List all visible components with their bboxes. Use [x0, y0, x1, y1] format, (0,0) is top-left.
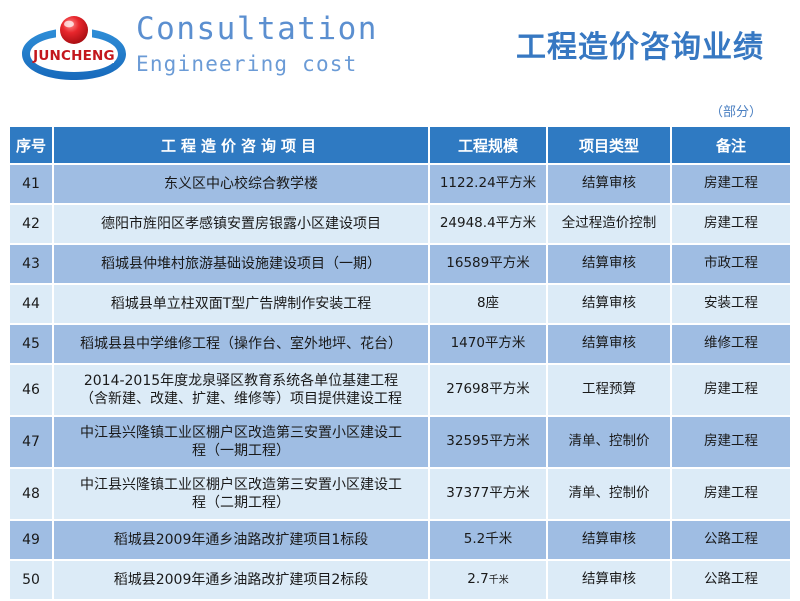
- performance-table-wrap: 序号 工程造价咨询项目 工程规模 项目类型 备注 41东义区中心校综合教学楼11…: [8, 125, 792, 601]
- page-header: JUNCHENG Consultation Engineering cost 工…: [0, 0, 800, 96]
- company-logo: JUNCHENG: [18, 12, 130, 84]
- table-body: 41东义区中心校综合教学楼1122.24平方米结算审核房建工程42德阳市旌阳区孝…: [10, 165, 790, 599]
- performance-table: 序号 工程造价咨询项目 工程规模 项目类型 备注 41东义区中心校综合教学楼11…: [8, 125, 792, 601]
- table-header-row: 序号 工程造价咨询项目 工程规模 项目类型 备注: [10, 127, 790, 163]
- cell-note: 公路工程: [672, 521, 790, 559]
- cell-project-line: 稻城县单立柱双面T型广告牌制作安装工程: [57, 295, 425, 313]
- cell-project: 稻城县县中学维修工程（操作台、室外地坪、花台）: [54, 325, 428, 363]
- cell-note: 房建工程: [672, 205, 790, 243]
- cell-type: 结算审核: [548, 285, 670, 323]
- cell-scale-value: 1122.24平方米: [440, 175, 536, 191]
- cell-project: 稻城县2009年通乡油路改扩建项目1标段: [54, 521, 428, 559]
- juncheng-logo-icon: JUNCHENG: [18, 12, 130, 84]
- cell-scale-value: 8座: [477, 295, 499, 311]
- cell-project-line: 程（二期工程）: [57, 494, 425, 512]
- cell-note: 房建工程: [672, 365, 790, 415]
- title-subnote: （部分）: [710, 101, 762, 120]
- cell-serial: 50: [10, 561, 52, 599]
- cell-serial: 46: [10, 365, 52, 415]
- cell-project-line: 2014-2015年度龙泉驿区教育系统各单位基建工程: [57, 372, 425, 390]
- cell-scale-value: 24948.4平方米: [440, 215, 536, 231]
- cell-serial: 43: [10, 245, 52, 283]
- cell-serial: 44: [10, 285, 52, 323]
- cell-project-line: 稻城县2009年通乡油路改扩建项目1标段: [57, 531, 425, 549]
- cell-project: 稻城县单立柱双面T型广告牌制作安装工程: [54, 285, 428, 323]
- table-row: 48中江县兴隆镇工业区棚户区改造第三安置小区建设工程（二期工程）37377平方米…: [10, 469, 790, 519]
- cell-scale: 16589平方米: [430, 245, 546, 283]
- cell-type: 清单、控制价: [548, 417, 670, 467]
- table-header: 序号 工程造价咨询项目 工程规模 项目类型 备注: [10, 127, 790, 163]
- cell-project-line: 中江县兴隆镇工业区棚户区改造第三安置小区建设工: [57, 476, 425, 494]
- col-header-type: 项目类型: [548, 127, 670, 163]
- table-row: 47中江县兴隆镇工业区棚户区改造第三安置小区建设工程（一期工程）32595平方米…: [10, 417, 790, 467]
- cell-scale: 37377平方米: [430, 469, 546, 519]
- cell-project: 德阳市旌阳区孝感镇安置房银露小区建设项目: [54, 205, 428, 243]
- cell-type: 结算审核: [548, 521, 670, 559]
- cell-scale-unit: 千米: [489, 575, 509, 586]
- table-row: 49稻城县2009年通乡油路改扩建项目1标段5.2千米结算审核公路工程: [10, 521, 790, 559]
- cell-type: 结算审核: [548, 561, 670, 599]
- cell-scale: 2.7千米: [430, 561, 546, 599]
- table-row: 41东义区中心校综合教学楼1122.24平方米结算审核房建工程: [10, 165, 790, 203]
- cell-project: 稻城县仲堆村旅游基础设施建设项目（一期）: [54, 245, 428, 283]
- col-header-note: 备注: [672, 127, 790, 163]
- cell-serial: 45: [10, 325, 52, 363]
- cell-scale-value: 1470平方米: [451, 335, 526, 351]
- cell-scale: 32595平方米: [430, 417, 546, 467]
- cell-scale-value: 2.7: [467, 571, 488, 587]
- table-row: 50稻城县2009年通乡油路改扩建项目2标段2.7千米结算审核公路工程: [10, 561, 790, 599]
- cell-type: 工程预算: [548, 365, 670, 415]
- cell-project: 中江县兴隆镇工业区棚户区改造第三安置小区建设工程（二期工程）: [54, 469, 428, 519]
- table-row: 45稻城县县中学维修工程（操作台、室外地坪、花台）1470平方米结算审核维修工程: [10, 325, 790, 363]
- cell-scale-value: 5.2千米: [464, 531, 512, 547]
- cell-note: 房建工程: [672, 165, 790, 203]
- brand-line-engineering-cost: Engineering cost: [136, 54, 378, 75]
- cell-project-line: 中江县兴隆镇工业区棚户区改造第三安置小区建设工: [57, 424, 425, 442]
- cell-note: 安装工程: [672, 285, 790, 323]
- cell-scale: 5.2千米: [430, 521, 546, 559]
- brand-line-consultation: Consultation: [136, 14, 378, 45]
- cell-type: 结算审核: [548, 325, 670, 363]
- cell-project-line: 稻城县2009年通乡油路改扩建项目2标段: [57, 571, 425, 589]
- cell-scale-value: 27698平方米: [446, 381, 529, 397]
- cell-project: 中江县兴隆镇工业区棚户区改造第三安置小区建设工程（一期工程）: [54, 417, 428, 467]
- cell-serial: 48: [10, 469, 52, 519]
- cell-scale: 1122.24平方米: [430, 165, 546, 203]
- cell-project: 2014-2015年度龙泉驿区教育系统各单位基建工程（含新建、改建、扩建、维修等…: [54, 365, 428, 415]
- cell-scale-value: 37377平方米: [446, 485, 529, 501]
- cell-project-line: （含新建、改建、扩建、维修等）项目提供建设工程: [57, 390, 425, 408]
- table-row: 462014-2015年度龙泉驿区教育系统各单位基建工程（含新建、改建、扩建、维…: [10, 365, 790, 415]
- cell-project: 东义区中心校综合教学楼: [54, 165, 428, 203]
- cell-serial: 47: [10, 417, 52, 467]
- cell-scale: 27698平方米: [430, 365, 546, 415]
- cell-project-line: 德阳市旌阳区孝感镇安置房银露小区建设项目: [57, 215, 425, 233]
- cell-project: 稻城县2009年通乡油路改扩建项目2标段: [54, 561, 428, 599]
- cell-scale: 1470平方米: [430, 325, 546, 363]
- cell-note: 市政工程: [672, 245, 790, 283]
- col-header-scale: 工程规模: [430, 127, 546, 163]
- cell-note: 房建工程: [672, 417, 790, 467]
- cell-project-line: 稻城县仲堆村旅游基础设施建设项目（一期）: [57, 255, 425, 273]
- page-title: 工程造价咨询业绩: [516, 22, 764, 66]
- cell-project-line: 稻城县县中学维修工程（操作台、室外地坪、花台）: [57, 335, 425, 353]
- cell-project-line: 程（一期工程）: [57, 442, 425, 460]
- cell-serial: 42: [10, 205, 52, 243]
- col-header-serial: 序号: [10, 127, 52, 163]
- cell-scale-value: 32595平方米: [446, 433, 529, 449]
- cell-serial: 41: [10, 165, 52, 203]
- cell-project-line: 东义区中心校综合教学楼: [57, 175, 425, 193]
- cell-type: 全过程造价控制: [548, 205, 670, 243]
- table-row: 43稻城县仲堆村旅游基础设施建设项目（一期）16589平方米结算审核市政工程: [10, 245, 790, 283]
- cell-serial: 49: [10, 521, 52, 559]
- brand-slogan: Consultation Engineering cost: [136, 14, 378, 75]
- logo-wordmark: JUNCHENG: [32, 48, 115, 64]
- col-header-project: 工程造价咨询项目: [54, 127, 428, 163]
- cell-type: 结算审核: [548, 245, 670, 283]
- cell-scale-value: 16589平方米: [446, 255, 529, 271]
- cell-note: 维修工程: [672, 325, 790, 363]
- cell-scale: 8座: [430, 285, 546, 323]
- cell-note: 公路工程: [672, 561, 790, 599]
- table-row: 42德阳市旌阳区孝感镇安置房银露小区建设项目24948.4平方米全过程造价控制房…: [10, 205, 790, 243]
- cell-scale: 24948.4平方米: [430, 205, 546, 243]
- cell-type: 清单、控制价: [548, 469, 670, 519]
- cell-type: 结算审核: [548, 165, 670, 203]
- cell-note: 房建工程: [672, 469, 790, 519]
- table-row: 44稻城县单立柱双面T型广告牌制作安装工程8座结算审核安装工程: [10, 285, 790, 323]
